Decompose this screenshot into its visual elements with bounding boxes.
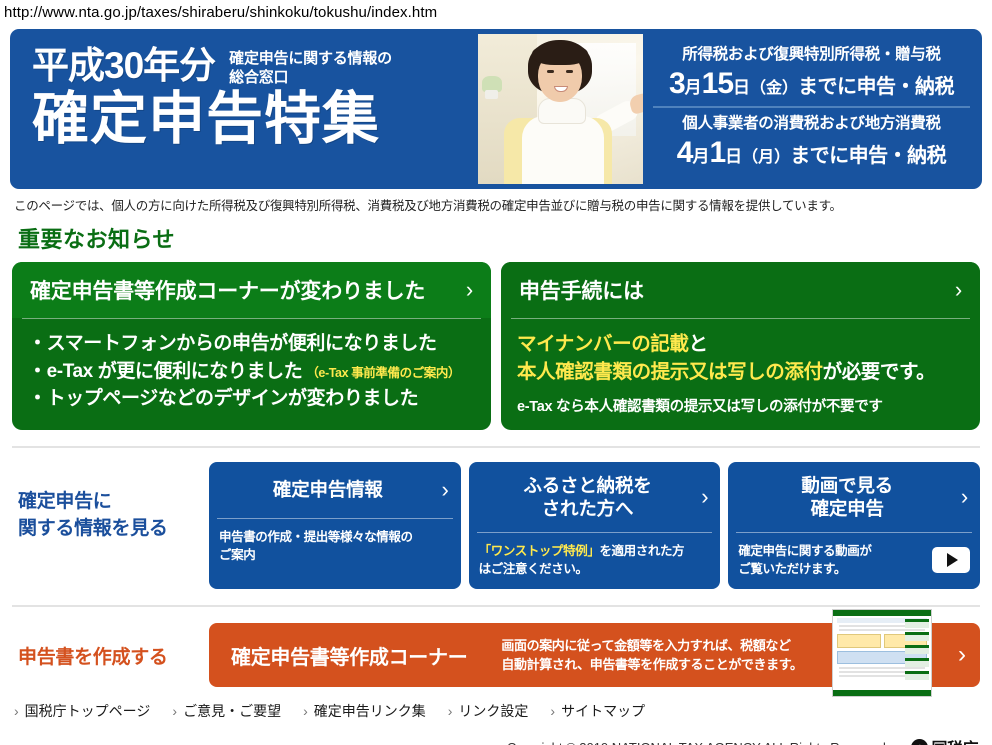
list-item: ・スマートフォンからの申告が便利になりました (28, 330, 475, 358)
section-divider (12, 446, 980, 448)
deadline-weekday: （月） (742, 143, 790, 167)
blue-card-header[interactable]: ふるさと納税を された方へ › (469, 462, 721, 532)
blue-card-title: 動画で見る 確定申告 (801, 474, 893, 520)
chevron-right-icon: › (550, 703, 555, 719)
deadline-box-consumption-tax: 個人事業者の消費税および地方消費税 4 月 1 日 （月） までに申告・納税 (653, 106, 970, 175)
title-line1: 動画で見る (801, 474, 893, 497)
chevron-right-icon: › (172, 703, 177, 719)
desc-line1: 「ワンストップ特例」を適用された方 (479, 542, 684, 560)
footer-link-feedback[interactable]: › ご意見・ご要望 (172, 701, 281, 721)
desc-highlight: 「ワンストップ特例」 (479, 544, 600, 558)
footer-link-link-settings[interactable]: › リンク設定 (448, 701, 529, 721)
copyright-text: Copyright © 2019 NATIONAL TAX AGENCY ALL… (507, 740, 890, 745)
create-section: 申告書を作成する 確定申告書等作成コーナー 画面の案内に従って金額等を入力すれば… (12, 623, 980, 687)
blue-card-header[interactable]: 動画で見る 確定申告 › (728, 462, 980, 532)
thumb-sidebar-block (905, 671, 929, 680)
blue-card-furusato-tax[interactable]: ふるさと納税を された方へ › 「ワンストップ特例」を適用された方 はご注意くだ… (469, 462, 721, 590)
highlight-line-1: マイナンバーの記載と (517, 330, 964, 358)
hero-photo (478, 34, 643, 184)
desc-line2: 自動計算され、申告書等を作成することができます。 (501, 655, 802, 675)
deadline-tail: までに申告・納税 (798, 70, 954, 99)
blue-card-desc: 「ワンストップ特例」を適用された方 はご注意ください。 (479, 542, 684, 578)
intro-text: このページでは、個人の方に向けた所得税及び復興特別所得税、消費税及び地方消費税の… (14, 195, 982, 214)
deadline-label: 個人事業者の消費税および地方消費税 (653, 115, 970, 134)
green-card-filing-procedure[interactable]: 申告手続には › マイナンバーの記載と 本人確認書類の提示又は写しの添付が必要で… (501, 262, 980, 430)
deadline-day-number: 1 (709, 136, 725, 170)
play-triangle (947, 553, 958, 567)
chevron-right-icon: › (303, 703, 308, 719)
desc-line2: ご案内 (219, 546, 413, 564)
chevron-right-icon: › (958, 643, 966, 667)
blue-card-body: 「ワンストップ特例」を適用された方 はご注意ください。 (469, 533, 721, 589)
hero-year: 平成30年分 (32, 47, 215, 86)
footer-link-label: サイトマップ (561, 701, 645, 721)
green-card-title: 確定申告書等作成コーナーが変わりました (30, 275, 425, 305)
title-line1: ふるさと納税を (523, 474, 651, 497)
green-card-note: e-Tax なら本人確認書類の提示又は写しの添付が不要です (517, 395, 964, 416)
deadline-month-number: 4 (677, 136, 693, 170)
chevron-right-icon: › (701, 486, 708, 508)
hero-subtitle-line1: 確定申告に関する情報の (229, 50, 392, 69)
green-card-body: ・スマートフォンからの申告が便利になりました ・e-Tax が更に便利になりまし… (12, 319, 491, 427)
deadline-date: 3 月 15 日 （金） までに申告・納税 (653, 67, 970, 101)
thumb-sidebar (905, 619, 929, 688)
footer-copyright-row: Copyright © 2019 NATIONAL TAX AGENCY ALL… (0, 735, 978, 745)
hero-headline-row: 平成30年分 確定申告に関する情報の 総合窓口 (32, 47, 478, 88)
info-label-line2: 関する情報を見る (18, 515, 209, 543)
footer-link-sitemap[interactable]: › サイトマップ (550, 701, 645, 721)
footer-link-label: リンク設定 (458, 701, 528, 721)
deadline-label: 所得税および復興特別所得税・贈与税 (653, 46, 970, 65)
chevron-right-icon: › (961, 486, 968, 508)
deadline-weekday: （金） (750, 74, 798, 98)
footer-link-label: ご意見・ご要望 (183, 701, 281, 721)
footer-link-links-collection[interactable]: › 確定申告リンク集 (303, 701, 426, 721)
hero-banner: 平成30年分 確定申告に関する情報の 総合窓口 確定申告特集 (10, 29, 982, 189)
blue-card-desc: 確定申告に関する動画が ご覧いただけます。 (738, 542, 871, 578)
green-card-header[interactable]: 確定申告書等作成コーナーが変わりました › (12, 262, 491, 318)
page-root: http://www.nta.go.jp/taxes/shiraberu/shi… (0, 0, 992, 745)
notice-heading: 重要なお知らせ (18, 222, 992, 254)
thumb-button (837, 634, 881, 648)
info-label-line1: 確定申告に (18, 488, 209, 516)
green-card-body: マイナンバーの記載と 本人確認書類の提示又は写しの添付が必要です。 e-Tax … (501, 319, 980, 430)
info-section-label: 確定申告に 関する情報を見る (12, 462, 209, 543)
deadline-month-number: 3 (669, 67, 685, 101)
hero-deadlines: 所得税および復興特別所得税・贈与税 3 月 15 日 （金） までに申告・納税 … (643, 29, 982, 189)
green-card-header[interactable]: 申告手続には › (501, 262, 980, 318)
deadline-month-unit: 月 (692, 142, 709, 167)
green-card-title: 申告手続には (519, 275, 644, 305)
hero-subtitle: 確定申告に関する情報の 総合窓口 (229, 50, 392, 88)
highlight-line-2: 本人確認書類の提示又は写しの添付が必要です。 (517, 358, 964, 386)
list-item-text: ・トップページなどのデザインが変わりました (28, 388, 418, 409)
photo-torso (522, 116, 604, 184)
agency-name: 国税庁 (931, 735, 978, 745)
blue-card-header[interactable]: 確定申告情報 › (209, 462, 461, 518)
list-item: ・e-Tax が更に便利になりました（e-Tax 事前準備のご案内） (28, 358, 475, 386)
deadline-day-number: 15 (702, 67, 733, 101)
chevron-right-icon: › (466, 279, 473, 301)
desc-line2: ご覧いただけます。 (738, 560, 871, 578)
blue-card-tax-return-info[interactable]: 確定申告情報 › 申告書の作成・提出等様々な情報の ご案内 (209, 462, 461, 590)
deadline-month-unit: 月 (685, 73, 702, 98)
deadline-box-income-tax: 所得税および復興特別所得税・贈与税 3 月 15 日 （金） までに申告・納税 (653, 43, 970, 106)
deadline-day-unit: 日 (733, 73, 750, 98)
blue-card-body: 確定申告に関する動画が ご覧いただけます。 (728, 533, 980, 589)
thumb-header (833, 610, 931, 616)
thumb-sidebar-block (905, 645, 929, 654)
title-line2: 確定申告 (801, 497, 893, 520)
create-section-label: 申告書を作成する (12, 642, 209, 669)
create-corner-desc: 画面の案内に従って金額等を入力すれば、税額など 自動計算され、申告書等を作成する… (501, 636, 802, 675)
deadline-day-unit: 日 (725, 142, 742, 167)
highlight-text: マイナンバーの記載 (517, 333, 689, 355)
info-section: 確定申告に 関する情報を見る 確定申告情報 › 申告書の作成・提出等様々な情報の… (12, 462, 980, 590)
thumb-sidebar-block (905, 619, 929, 628)
photo-fringe (532, 43, 588, 65)
chevron-right-icon: › (442, 479, 449, 501)
desc-line1: 画面の案内に従って金額等を入力すれば、税額など (501, 636, 802, 656)
footer-links: › 国税庁トップページ › ご意見・ご要望 › 確定申告リンク集 › リンク設定… (14, 701, 992, 721)
thumb-footer (833, 690, 931, 696)
hero-title: 確定申告特集 (32, 90, 478, 150)
footer-link-label: 確定申告リンク集 (314, 701, 426, 721)
section-divider (12, 605, 980, 607)
hero-left: 平成30年分 確定申告に関する情報の 総合窓口 確定申告特集 (10, 29, 478, 189)
list-item: ・トップページなどのデザインが変わりました (28, 385, 475, 413)
highlight-text: 本人確認書類の提示又は写しの添付 (517, 361, 823, 383)
desc-line1: 申告書の作成・提出等様々な情報の (219, 528, 413, 546)
list-item-text: ・スマートフォンからの申告が便利になりました (28, 333, 437, 354)
deadline-tail: までに申告・納税 (790, 139, 946, 168)
blue-card-title: ふるさと納税を された方へ (523, 474, 651, 520)
nta-logo: ★ 国税庁 (911, 735, 978, 745)
footer-link-label: 国税庁トップページ (25, 701, 151, 721)
thumb-sidebar-block (905, 632, 929, 641)
photo-plant-pot (485, 90, 498, 99)
photo-eye-left (547, 70, 554, 73)
photo-eye-right (566, 70, 573, 73)
desc-line1: 確定申告に関する動画が (738, 542, 871, 560)
seal-icon: ★ (911, 739, 928, 745)
hero-subtitle-line2: 総合窓口 (229, 69, 392, 88)
list-item-text: ・e-Tax が更に便利になりました (28, 361, 302, 382)
green-card-creation-corner[interactable]: 確定申告書等作成コーナーが変わりました › ・スマートフォンからの申告が便利にな… (12, 262, 491, 430)
blue-card-body: 申告書の作成・提出等様々な情報の ご案内 (209, 519, 461, 575)
desc-line2: はご注意ください。 (479, 560, 684, 578)
info-cards: 確定申告情報 › 申告書の作成・提出等様々な情報の ご案内 ふるさと納税を され… (209, 462, 980, 590)
chevron-right-icon: › (955, 279, 962, 301)
deadline-date: 4 月 1 日 （月） までに申告・納税 (653, 136, 970, 170)
address-bar[interactable]: http://www.nta.go.jp/taxes/shiraberu/shi… (0, 0, 992, 26)
list-item-note: （e-Tax 事前準備のご案内） (306, 366, 460, 380)
footer-link-nta-top[interactable]: › 国税庁トップページ (14, 701, 150, 721)
blue-card-video[interactable]: 動画で見る 確定申告 › 確定申告に関する動画が ご覧いただけます。 (728, 462, 980, 590)
blue-card-title: 確定申告情報 (273, 478, 383, 501)
thumb-sidebar-block (905, 658, 929, 667)
create-corner-title: 確定申告書等作成コーナー (231, 641, 467, 670)
desc-rest: を適用された方 (599, 544, 684, 558)
play-icon[interactable] (932, 547, 970, 573)
highlight-tail: と (689, 333, 708, 355)
blue-card-desc: 申告書の作成・提出等様々な情報の ご案内 (219, 528, 413, 564)
highlight-tail: が必要です。 (823, 361, 936, 383)
notice-cards: 確定申告書等作成コーナーが変わりました › ・スマートフォンからの申告が便利にな… (12, 262, 980, 430)
title-line2: された方へ (523, 497, 651, 520)
chevron-right-icon: › (14, 703, 19, 719)
create-corner-button[interactable]: 確定申告書等作成コーナー 画面の案内に従って金額等を入力すれば、税額など 自動計… (209, 623, 980, 687)
creation-corner-thumbnail (832, 609, 932, 697)
chevron-right-icon: › (448, 703, 453, 719)
